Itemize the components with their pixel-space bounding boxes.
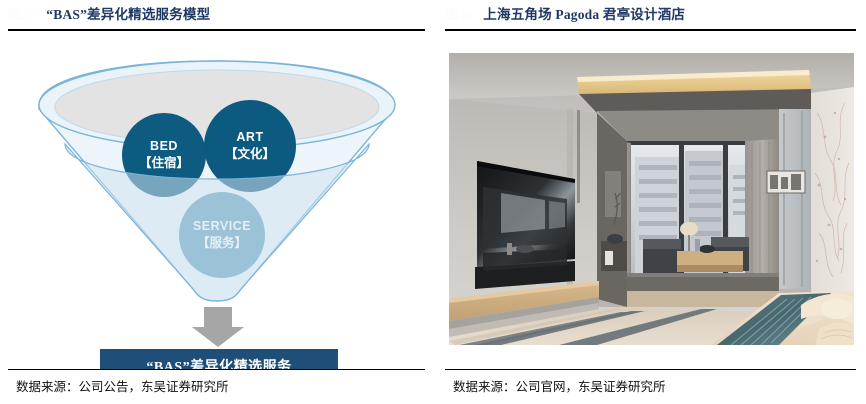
hotel-room-photo — [449, 53, 854, 345]
figure-number-left: 图37: — [8, 7, 40, 22]
source-note-left: 数据来源：公司公告，东吴证券研究所 — [8, 370, 425, 404]
figure-title-right: 上海五角场 Pagoda 君亭设计酒店 — [483, 7, 685, 22]
figure-panel-right: 图38:上海五角场 Pagoda 君亭设计酒店 — [433, 0, 866, 404]
down-arrow-icon — [8, 31, 425, 367]
panel-title-right: 图38:上海五角场 Pagoda 君亭设计酒店 — [445, 0, 856, 29]
figure-body-right — [445, 31, 856, 369]
source-note-right: 数据来源：公司官网，东吴证券研究所 — [445, 370, 856, 404]
hotel-room-photo-render — [449, 53, 854, 345]
figure-pair: 图37:“BAS”差异化精选服务模型 BED 【住宿】 — [0, 0, 866, 404]
result-box-label: “BAS”差异化精选服务 — [146, 356, 291, 369]
panel-title-left: 图37:“BAS”差异化精选服务模型 — [8, 0, 425, 29]
figure-number-right: 图38: — [445, 7, 477, 22]
figure-panel-left: 图37:“BAS”差异化精选服务模型 BED 【住宿】 — [0, 0, 433, 404]
figure-body-left: BED 【住宿】 ART 【文化】 SERVICE 【服务】 — [8, 31, 425, 369]
result-box: “BAS”差异化精选服务 — [100, 349, 338, 369]
bas-funnel-diagram: BED 【住宿】 ART 【文化】 SERVICE 【服务】 — [8, 31, 425, 367]
figure-title-left: “BAS”差异化精选服务模型 — [46, 7, 210, 22]
